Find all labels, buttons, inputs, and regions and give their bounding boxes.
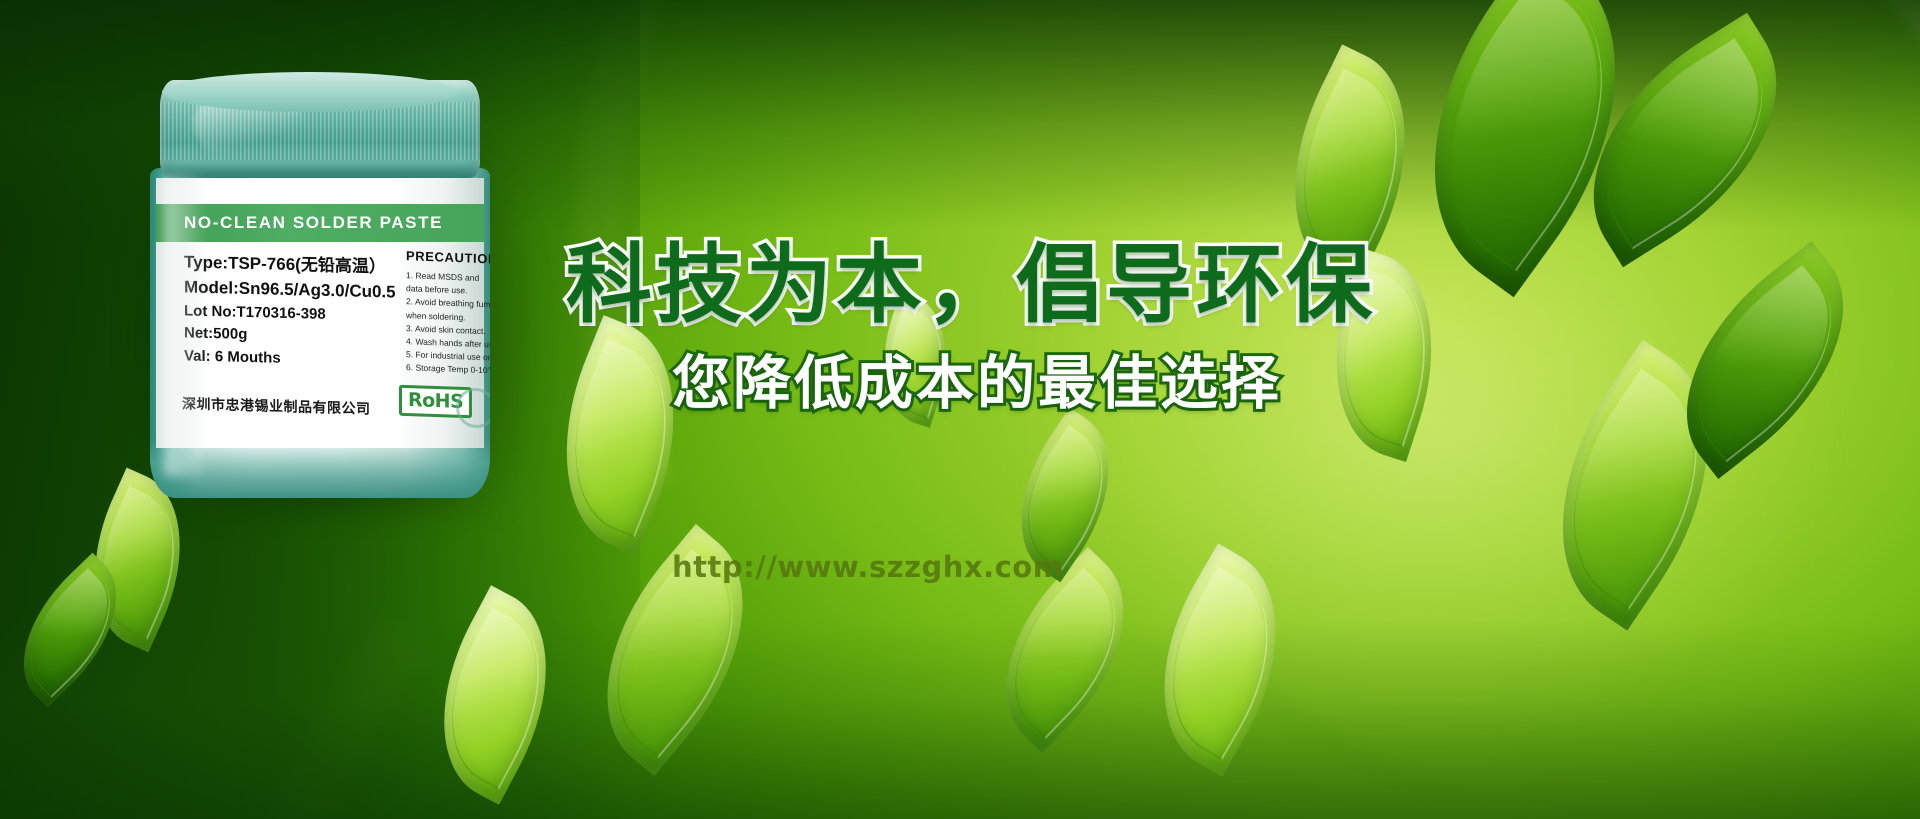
label-title-band: NO-CLEAN SOLDER PASTE [156,204,484,242]
label-title-text: NO-CLEAN SOLDER PASTE [156,213,443,233]
jar-lid-top [162,72,458,112]
background-bottom-shade [0,619,1920,819]
jar-body: NO-CLEAN SOLDER PASTE Type:TSP-766(无铅高温）… [150,168,490,498]
spec-model: Model:Sn96.5/Ag3.0/Cu0.5 [184,278,398,301]
website-url[interactable]: http://www.szzghx.com [672,550,1063,584]
ce-mark-icon [456,387,490,428]
product-label: NO-CLEAN SOLDER PASTE Type:TSP-766(无铅高温）… [156,178,484,448]
spec-net: Net:500g [184,326,398,347]
subtitle-text: 您降低成本的最佳选择 [672,336,1282,420]
rohs-label: RoHS [408,389,463,413]
label-precautions-block: PRECAUTIONS 1. Read MSDS and data before… [406,248,490,378]
spec-val: Val: 6 Mouths [184,349,398,370]
precaution-item: 6. Storage Temp 0-10℃ [406,361,490,378]
product-jar: NO-CLEAN SOLDER PASTE Type:TSP-766(无铅高温）… [150,80,530,510]
manufacturer-name: 深圳市忠港锡业制品有限公司 [182,393,371,418]
headline-text: 科技为本，倡导环保 [566,214,1376,339]
spec-type: Type:TSP-766(无铅高温） [184,253,398,276]
product-banner: 科技为本，倡导环保 您降低成本的最佳选择 http://www.szzghx.c… [0,0,1920,819]
label-spec-block: Type:TSP-766(无铅高温） Model:Sn96.5/Ag3.0/Cu… [184,256,398,374]
spec-lot: Lot No:T170316-398 [184,303,398,324]
precautions-title: PRECAUTIONS [406,248,490,267]
